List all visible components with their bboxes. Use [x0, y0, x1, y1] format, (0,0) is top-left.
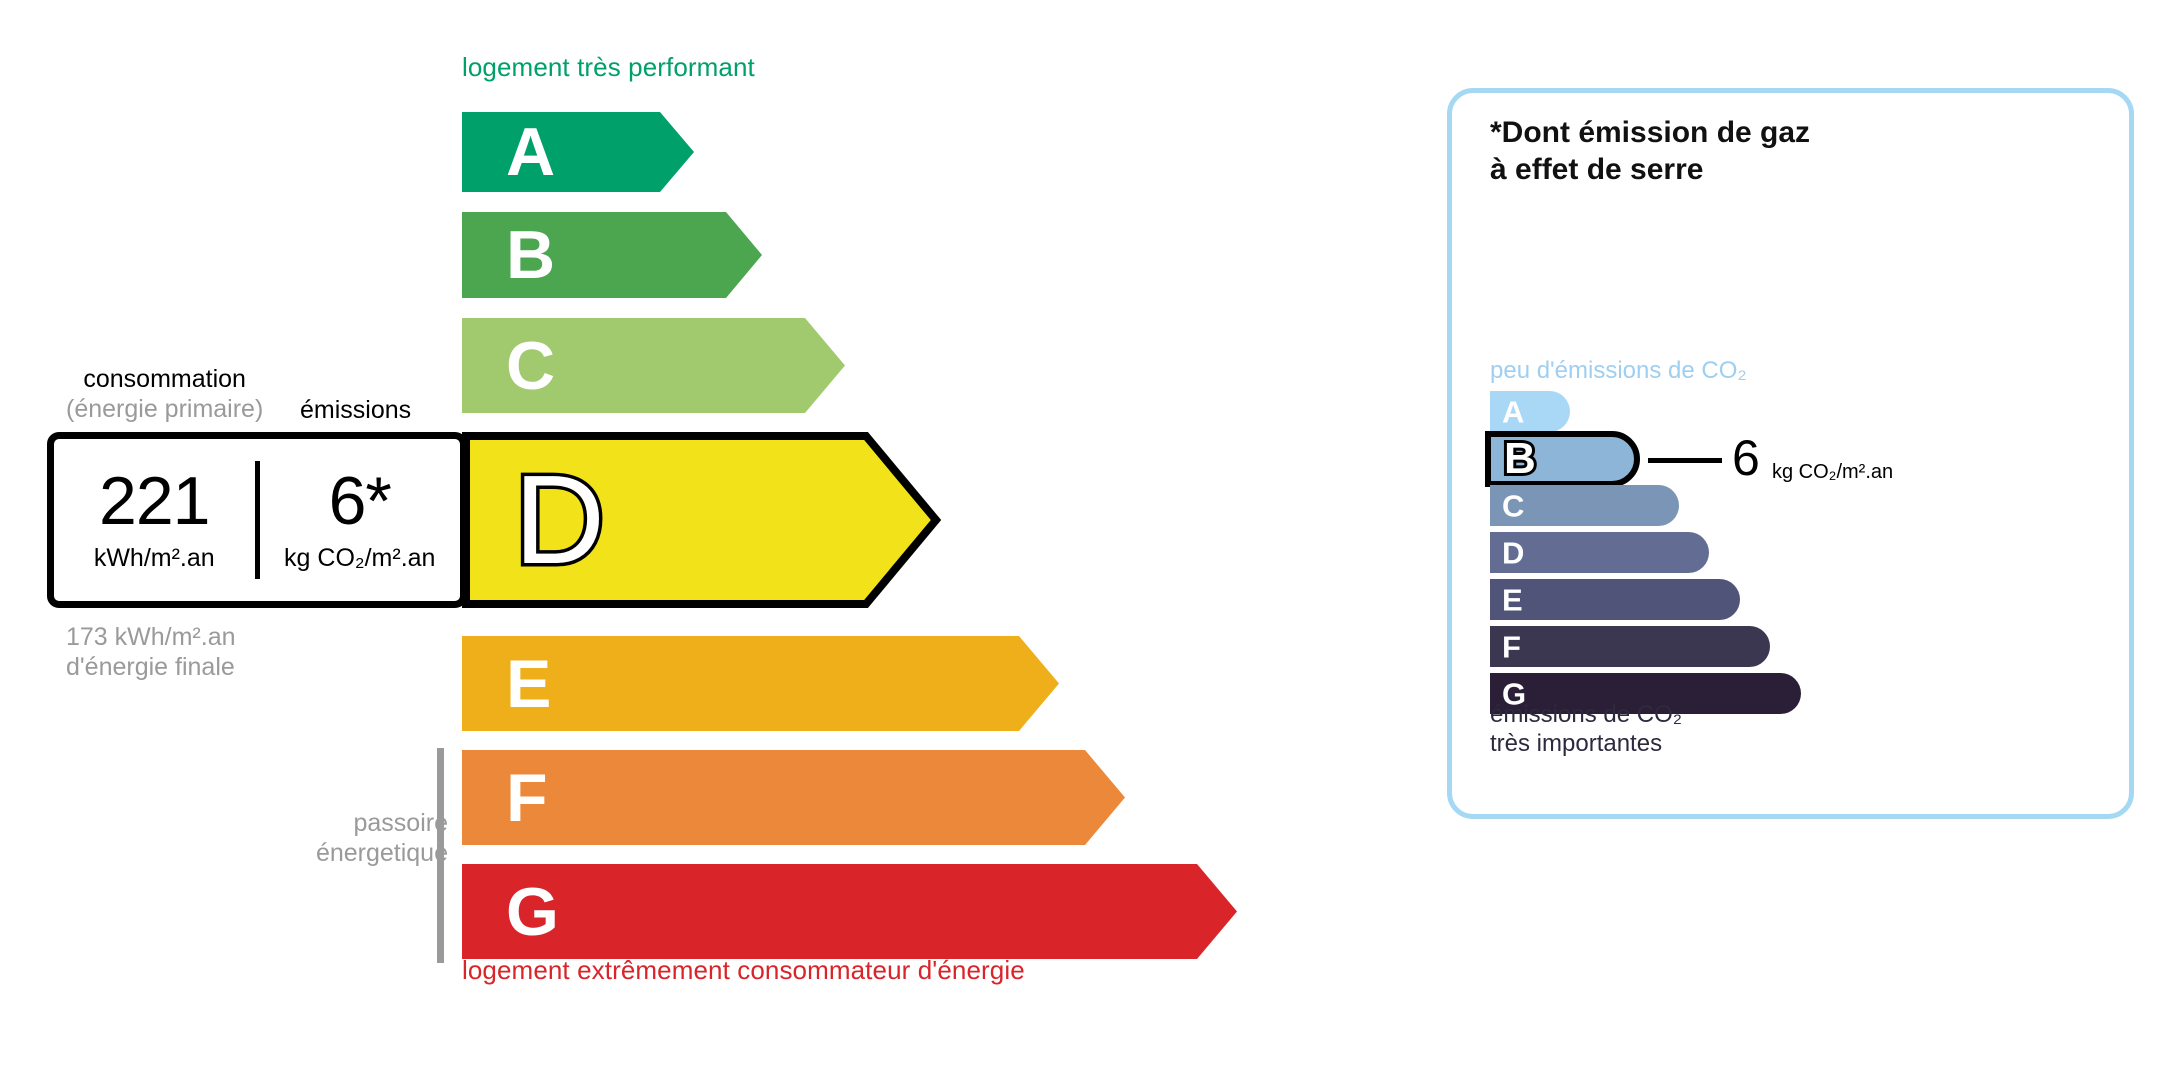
energy-band-label-c: C — [506, 332, 555, 400]
emissions-header: émissions — [300, 396, 411, 426]
passoire-energetique-label: passoire énergetique — [283, 808, 448, 868]
energy-band-label-b: B — [506, 221, 555, 289]
energy-band-label-a: A — [506, 118, 555, 186]
co2-top-caption: peu d'émissions de CO₂ — [1490, 357, 1747, 385]
co2-band-label-b: B — [1504, 437, 1536, 481]
energy-band-label-d: D — [514, 457, 605, 583]
co2-band-a[interactable]: A — [1490, 391, 1570, 432]
co2-bottom-line-2: très importantes — [1490, 730, 1662, 757]
energy-band-d[interactable]: D — [462, 432, 941, 608]
co2-band-label-e: E — [1502, 584, 1523, 615]
energy-band-label-e: E — [506, 650, 551, 718]
emissions-value: 6* — [329, 467, 391, 535]
energy-band-e[interactable]: E — [462, 636, 1059, 731]
energy-band-c[interactable]: C — [462, 318, 845, 413]
co2-panel-title: *Dont émission de gaz à effet de serre — [1490, 115, 1810, 189]
co2-band-label-f: F — [1502, 631, 1521, 662]
co2-band-e[interactable]: E — [1490, 579, 1740, 620]
co2-band-label-a: A — [1502, 396, 1524, 427]
co2-band-label-c: C — [1502, 490, 1524, 521]
passoire-line-1: passoire — [354, 809, 449, 837]
final-energy-value: 173 kWh/m².an — [66, 623, 236, 651]
emissions-unit: kg CO₂/m².an — [284, 544, 435, 573]
energy-band-g[interactable]: G — [462, 864, 1237, 959]
energy-band-label-f: F — [506, 764, 548, 832]
band-arrow-shape — [462, 864, 1237, 959]
consumption-header-sub: (énergie primaire) — [66, 395, 263, 425]
co2-value: 6 — [1732, 433, 1760, 483]
final-energy-note: 173 kWh/m².an d'énergie finale — [66, 622, 236, 682]
co2-title-line-2: à effet de serre — [1490, 153, 1703, 186]
value-box: 221 kWh/m².an 6* kg CO₂/m².an — [47, 432, 467, 608]
co2-emissions-panel: *Dont émission de gaz à effet de serre p… — [1447, 88, 2134, 819]
co2-bottom-line-1: émissions de CO₂ — [1490, 701, 1682, 728]
consumption-value: 221 — [99, 467, 209, 535]
passoire-bracket-bar — [437, 748, 444, 963]
band-arrow-shape — [462, 636, 1059, 731]
co2-band-d[interactable]: D — [1490, 532, 1709, 573]
energy-band-f[interactable]: F — [462, 750, 1125, 845]
consumption-header-main: consommation — [83, 365, 246, 393]
co2-band-f[interactable]: F — [1490, 626, 1770, 667]
consumption-unit: kWh/m².an — [94, 544, 215, 573]
co2-band-b-selected[interactable]: B — [1485, 431, 1640, 487]
co2-value-unit: kg CO₂/m².an — [1772, 461, 1893, 484]
co2-title-line-1: *Dont émission de gaz — [1490, 116, 1810, 149]
energy-band-a[interactable]: A — [462, 112, 694, 192]
final-energy-label: d'énergie finale — [66, 653, 235, 681]
energy-band-b[interactable]: B — [462, 212, 762, 298]
band-arrow-shape — [462, 750, 1125, 845]
energy-performance-scale: logement très performant A B C D E — [0, 0, 1400, 1079]
band-arrow-shape — [462, 112, 694, 192]
passoire-line-2: énergetique — [316, 839, 448, 867]
scale-top-caption: logement très performant — [462, 52, 755, 83]
consumption-header: consommation (énergie primaire) — [66, 365, 263, 424]
energy-band-label-g: G — [506, 878, 559, 946]
emissions-cell: 6* kg CO₂/m².an — [260, 439, 461, 601]
co2-leader-line — [1648, 458, 1722, 463]
scale-bottom-caption: logement extrêmement consommateur d'éner… — [462, 955, 1025, 986]
co2-bottom-caption: émissions de CO₂ très importantes — [1490, 701, 1682, 759]
co2-band-c[interactable]: C — [1490, 485, 1679, 526]
consumption-cell: 221 kWh/m².an — [54, 439, 255, 601]
co2-band-label-d: D — [1502, 537, 1524, 568]
